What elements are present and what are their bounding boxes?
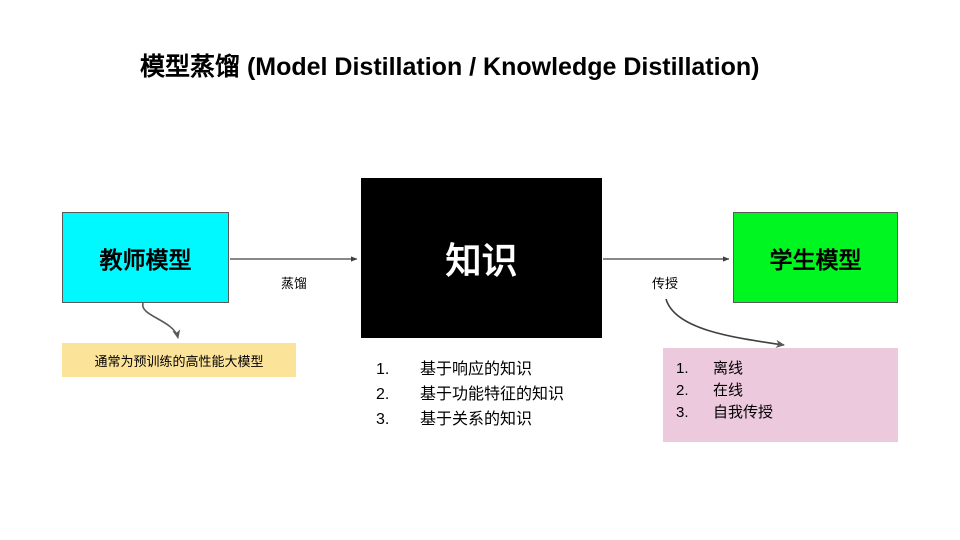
callout-teacher-note-text: 通常为预训练的高性能大模型 — [94, 351, 263, 370]
node-student-model-label: 学生模型 — [770, 241, 862, 275]
node-teacher-model[interactable]: 教师模型 — [62, 212, 229, 303]
list-item-label: 基于响应的知识 — [420, 358, 576, 382]
list-item-number: 3. — [376, 408, 420, 432]
list-item: 3. 基于关系的知识 — [376, 408, 576, 432]
list-item-label: 基于功能特征的知识 — [420, 383, 576, 407]
slide-canvas: 模型蒸馏 (Model Distillation / Knowledge Dis… — [0, 0, 960, 540]
student-distillation-modes-list: 1. 离线 2. 在线 3. 自我传授 — [676, 358, 886, 424]
list-item-number: 2. — [376, 383, 420, 407]
callout-teacher-note: 通常为预训练的高性能大模型 — [62, 343, 296, 377]
arrow-teacher-to-note — [143, 303, 178, 338]
edge-label-distillation: 蒸馏 — [258, 273, 330, 292]
list-item-label: 离线 — [713, 358, 886, 380]
list-item: 1. 离线 — [676, 358, 886, 380]
list-item: 3. 自我传授 — [676, 402, 886, 424]
list-item-label: 自我传授 — [713, 402, 886, 424]
list-item-number: 1. — [676, 358, 713, 380]
list-item: 2. 在线 — [676, 380, 886, 402]
node-knowledge-label: 知识 — [445, 232, 517, 284]
node-teacher-model-label: 教师模型 — [100, 241, 192, 275]
node-knowledge[interactable]: 知识 — [361, 178, 602, 338]
page-title: 模型蒸馏 (Model Distillation / Knowledge Dis… — [140, 47, 840, 83]
list-item-label: 基于关系的知识 — [420, 408, 576, 432]
list-item: 1. 基于响应的知识 — [376, 358, 576, 382]
list-item-number: 2. — [676, 380, 713, 402]
list-item-number: 1. — [376, 358, 420, 382]
list-item-label: 在线 — [713, 380, 886, 402]
list-item-number: 3. — [676, 402, 713, 424]
knowledge-types-list: 1. 基于响应的知识 2. 基于功能特征的知识 3. 基于关系的知识 — [376, 358, 576, 433]
arrow-student-to-note — [666, 299, 784, 345]
node-student-model[interactable]: 学生模型 — [733, 212, 898, 303]
edge-label-transfer: 传授 — [629, 273, 701, 292]
list-item: 2. 基于功能特征的知识 — [376, 383, 576, 407]
